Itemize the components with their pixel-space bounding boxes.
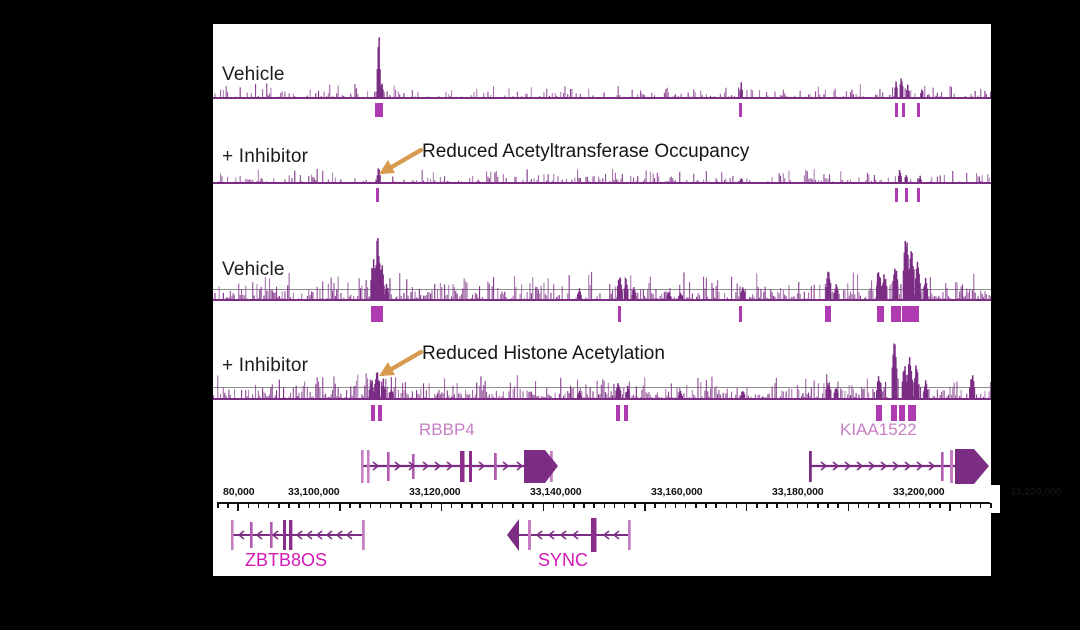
peak-call-block[interactable] (891, 405, 896, 421)
peak-call-row-3[interactable] (213, 306, 991, 322)
ruler-major-tick (441, 503, 443, 511)
peak-call-block[interactable] (376, 188, 380, 202)
ruler-minor-tick (471, 503, 473, 508)
ruler-minor-tick (227, 503, 229, 508)
ruler-minor-tick (919, 503, 921, 508)
gene-model-sync (507, 518, 631, 552)
ruler-minor-tick (888, 503, 890, 508)
callout-arrow-1-icon (370, 144, 425, 180)
gene-annotation-track-bottom[interactable]: ZBTB8OS SYNC (213, 513, 991, 576)
peak-call-block[interactable] (895, 188, 899, 202)
signal-track-vehicle-acetyltransferase[interactable]: Vehicle (213, 24, 991, 119)
ruler-major-tick (543, 503, 545, 511)
ruler-minor-tick (604, 503, 606, 508)
gene-model-rbbp4 (361, 450, 558, 483)
ruler-label: 33,140,000 (530, 486, 582, 498)
peak-call-block[interactable] (378, 405, 382, 421)
ruler-minor-tick (420, 503, 422, 508)
peak-call-block[interactable] (371, 306, 383, 322)
ruler-minor-tick (797, 503, 799, 508)
ruler-minor-tick (258, 503, 260, 508)
peak-call-block[interactable] (371, 405, 375, 421)
ruler-minor-tick (329, 503, 331, 508)
ruler-minor-tick (929, 503, 931, 508)
ruler-minor-tick (726, 503, 728, 508)
ruler-minor-tick (502, 503, 504, 508)
peak-call-row-1[interactable] (213, 103, 991, 117)
ruler-minor-tick (288, 503, 290, 508)
ruler-minor-tick (827, 503, 829, 508)
ruler-minor-tick (400, 503, 402, 508)
gene-label-sync[interactable]: SYNC (538, 550, 588, 571)
ruler-minor-tick (451, 503, 453, 508)
signal-waveform-3 (213, 228, 991, 301)
ruler-minor-tick (756, 503, 758, 508)
callout-text-reduced-histone-acetylation: Reduced Histone Acetylation (422, 343, 665, 365)
peak-call-block[interactable] (825, 306, 831, 322)
ruler-label: 33,180,000 (772, 486, 824, 498)
gene-label-rbbp4[interactable]: RBBP4 (419, 420, 475, 440)
ruler-minor-tick (807, 503, 809, 508)
peak-call-block[interactable] (905, 188, 908, 202)
ruler-minor-tick (787, 503, 789, 508)
ruler-minor-tick (939, 503, 941, 508)
ruler-minor-tick (298, 503, 300, 508)
ruler-minor-tick (614, 503, 616, 508)
ruler-minor-tick (278, 503, 280, 508)
peak-call-block[interactable] (876, 405, 882, 421)
waveform-svg-3 (213, 228, 991, 301)
signal-baseline-2 (213, 182, 991, 184)
ruler-minor-tick (878, 503, 880, 508)
gene-model-zbtb8os (231, 520, 365, 550)
ruler-minor-tick (624, 503, 626, 508)
ruler-minor-tick (319, 503, 321, 508)
ruler-minor-tick (654, 503, 656, 508)
peak-call-block[interactable] (917, 103, 920, 117)
ruler-minor-tick (563, 503, 565, 508)
signal-track-vehicle-histone[interactable]: Vehicle (213, 228, 991, 328)
coordinate-ruler[interactable]: 80,00033,100,00033,120,00033,140,00033,1… (213, 485, 1000, 513)
ruler-minor-tick (715, 503, 717, 508)
ruler-minor-tick (380, 503, 382, 508)
peak-call-block[interactable] (739, 306, 742, 322)
ruler-minor-tick (349, 503, 351, 508)
ruler-minor-tick (817, 503, 819, 508)
ruler-minor-tick (268, 503, 270, 508)
ruler-minor-tick (960, 503, 962, 508)
ruler-minor-tick (909, 503, 911, 508)
ruler-minor-tick (980, 503, 982, 508)
ruler-minor-tick (695, 503, 697, 508)
ruler-minor-tick (248, 503, 250, 508)
peak-call-block[interactable] (895, 103, 899, 117)
ruler-label: 80,000 (223, 486, 255, 498)
gene-models-svg-bottom (213, 513, 991, 557)
ruler-minor-tick (359, 503, 361, 508)
signal-baseline-4 (213, 398, 991, 400)
ruler-minor-tick (899, 503, 901, 508)
ruler-major-tick (237, 503, 239, 511)
peak-call-block[interactable] (899, 405, 905, 421)
peak-call-block[interactable] (902, 306, 919, 322)
coordinate-ruler-strip[interactable]: 80,00033,100,00033,120,00033,140,00033,1… (213, 485, 1000, 513)
ruler-label: 33,100,000 (288, 486, 340, 498)
peak-call-row-4[interactable] (213, 405, 991, 421)
ruler-minor-tick (532, 503, 534, 508)
peak-call-block[interactable] (739, 103, 742, 117)
peak-call-block[interactable] (891, 306, 900, 322)
ruler-major-tick (644, 503, 646, 511)
ruler-minor-tick (217, 503, 219, 508)
ruler-label: 33,160,000 (651, 486, 703, 498)
gene-annotation-track-main[interactable]: RBBP4 KIAA1522 (213, 420, 991, 490)
gene-models-svg-main (213, 442, 991, 490)
ruler-label: 33,200,000 (893, 486, 945, 498)
ruler-minor-tick (522, 503, 524, 508)
ruler-minor-tick (583, 503, 585, 508)
ruler-minor-tick (512, 503, 514, 508)
ruler-minor-tick (461, 503, 463, 508)
ruler-major-tick (339, 503, 341, 511)
ruler-minor-tick (858, 503, 860, 508)
ruler-minor-tick (685, 503, 687, 508)
screenshot-root: Vehicle + Inhibitor Vehicle + Inhibitor (0, 0, 1080, 630)
gene-label-zbtb8os[interactable]: ZBTB8OS (245, 550, 327, 571)
ruler-major-tick (746, 503, 748, 511)
peak-call-block[interactable] (616, 405, 620, 421)
ruler-minor-tick (970, 503, 972, 508)
peak-call-row-2[interactable] (213, 188, 991, 202)
ruler-minor-tick (776, 503, 778, 508)
peak-call-block[interactable] (902, 103, 905, 117)
ruler-label: 33,120,000 (409, 486, 461, 498)
waveform-svg-1 (213, 28, 991, 99)
peak-call-block[interactable] (908, 405, 916, 421)
ruler-minor-tick (309, 503, 311, 508)
ruler-minor-tick (837, 503, 839, 508)
ruler-label: 33,220,000 (1010, 486, 1062, 498)
ruler-minor-tick (481, 503, 483, 508)
ruler-minor-tick (634, 503, 636, 508)
ruler-minor-tick (573, 503, 575, 508)
ruler-minor-tick (593, 503, 595, 508)
signal-baseline-3 (213, 299, 991, 301)
gene-label-kiaa1522[interactable]: KIAA1522 (840, 420, 917, 440)
peak-call-block[interactable] (877, 306, 885, 322)
signal-baseline-1 (213, 97, 991, 99)
signal-waveform-1 (213, 28, 991, 99)
ruler-minor-tick (665, 503, 667, 508)
ruler-minor-tick (736, 503, 738, 508)
peak-call-block[interactable] (375, 103, 383, 117)
ruler-minor-tick (431, 503, 433, 508)
ruler-minor-tick (705, 503, 707, 508)
ruler-minor-tick (990, 503, 992, 508)
gene-model-kiaa1522 (809, 449, 989, 484)
callout-text-reduced-acetyltransferase-occupancy: Reduced Acetyltransferase Occupancy (422, 141, 749, 163)
ruler-major-tick (949, 503, 951, 511)
ruler-minor-tick (492, 503, 494, 508)
ruler-minor-tick (390, 503, 392, 508)
ruler-major-tick (848, 503, 850, 511)
peak-call-block[interactable] (917, 188, 920, 202)
ruler-minor-tick (370, 503, 372, 508)
ruler-minor-tick (553, 503, 555, 508)
ruler-minor-tick (675, 503, 677, 508)
ruler-minor-tick (410, 503, 412, 508)
callout-arrow-2-icon (370, 346, 425, 382)
peak-call-block[interactable] (624, 405, 628, 421)
ruler-minor-tick (766, 503, 768, 508)
ruler-minor-tick (868, 503, 870, 508)
peak-call-block[interactable] (618, 306, 622, 322)
